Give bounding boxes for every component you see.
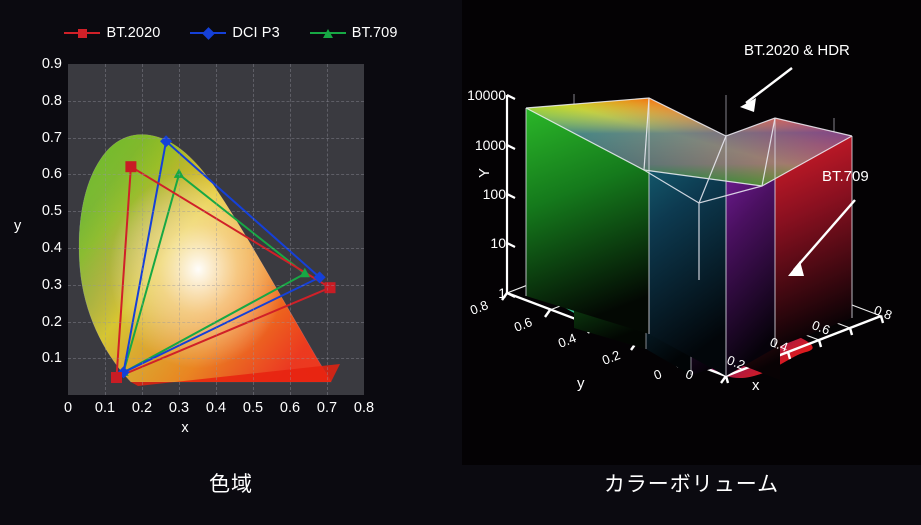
annotation-arrow-bt2020: [746, 68, 792, 103]
y-tick-0.6: 0.6: [16, 166, 62, 182]
cie-chromaticity-chart: 0.9 0.8 0.7 0.6 0.5 0.4 0.3 0.2 0.1 y: [0, 0, 462, 440]
y-tick-0.5: 0.5: [16, 203, 62, 219]
volume-bt2020-hdr: [526, 98, 852, 376]
color-volume-3d-svg: [462, 0, 921, 465]
z-axis: [507, 95, 515, 297]
x-tick-0: 0: [64, 400, 72, 416]
x-tick-0.7: 0.7: [317, 400, 337, 416]
gamut-panel: BT.2020 DCI P3 BT.709 0.9 0.8 0.: [0, 0, 462, 525]
cie-plot-area: [68, 64, 364, 395]
y-tick-0.9: 0.9: [16, 56, 62, 72]
x-tick-0.6: 0.6: [280, 400, 300, 416]
y-tick-0.2: 0.2: [16, 314, 62, 330]
caption-color-volume: カラーボリューム: [462, 468, 921, 498]
x-tick-0.4: 0.4: [206, 400, 226, 416]
y-tick-0.8: 0.8: [16, 93, 62, 109]
x3-axis-label: x: [752, 377, 760, 394]
x-tick-0.5: 0.5: [243, 400, 263, 416]
y-tick-0.1: 0.1: [16, 350, 62, 366]
annotation-label-bt2020-hdr: BT.2020 & HDR: [744, 42, 850, 59]
z-tick-10: 10: [454, 235, 506, 251]
z-axis-label: Y: [476, 168, 493, 178]
marker-bt2020-green: [125, 161, 136, 172]
x-axis-label: x: [0, 420, 416, 436]
x-tick-0.1: 0.1: [95, 400, 115, 416]
z-tick-1000: 1000: [454, 137, 506, 153]
z-tick-10000: 10000: [454, 87, 506, 103]
x-tick-0.8: 0.8: [354, 400, 374, 416]
y-tick-0.4: 0.4: [16, 240, 62, 256]
x-tick-0.2: 0.2: [132, 400, 152, 416]
y3-axis-label: y: [577, 375, 585, 392]
caption-gamut: 色域: [0, 468, 462, 498]
y-tick-0.7: 0.7: [16, 130, 62, 146]
annotation-label-bt709: BT.709: [822, 168, 869, 185]
figure-root: BT.2020 DCI P3 BT.709 0.9 0.8 0.: [0, 0, 921, 525]
z-tick-100: 100: [454, 186, 506, 202]
x-tick-0.3: 0.3: [169, 400, 189, 416]
y-axis-label: y: [14, 218, 21, 234]
marker-bt2020-blue: [111, 372, 122, 383]
y-tick-0.3: 0.3: [16, 277, 62, 293]
color-volume-panel: 10000 1000 100 10 1 Y 0.8 0.6 0.4 0.2 0 …: [462, 0, 921, 525]
color-volume-plot-area: 10000 1000 100 10 1 Y 0.8 0.6 0.4 0.2 0 …: [462, 0, 921, 465]
